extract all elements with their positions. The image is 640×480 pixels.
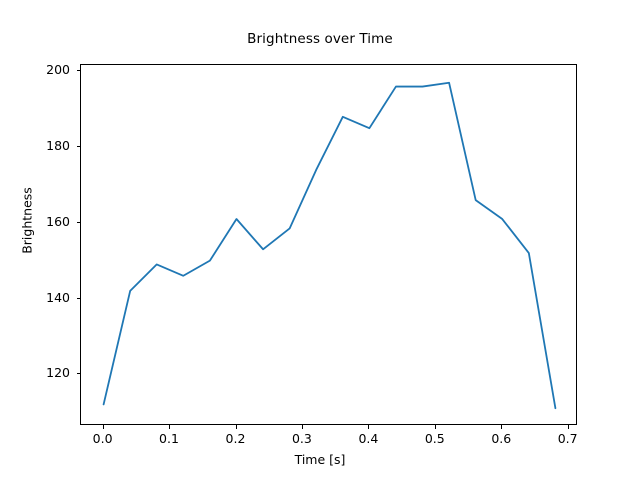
x-tick-label: 0.2 <box>216 431 256 446</box>
y-tick-label: 200 <box>30 62 70 77</box>
x-tick-label: 0.3 <box>282 431 322 446</box>
x-tick-label: 0.4 <box>348 431 388 446</box>
y-tick-label: 140 <box>30 290 70 305</box>
x-tick-label: 0.1 <box>149 431 189 446</box>
data-series-svg <box>81 65 578 426</box>
y-tick-label: 160 <box>30 214 70 229</box>
chart-title: Brightness over Time <box>0 31 640 47</box>
x-axis-label: Time [s] <box>0 452 640 467</box>
y-tick-label: 120 <box>30 365 70 380</box>
x-tick-label: 0.7 <box>548 431 588 446</box>
y-tick-label: 180 <box>30 138 70 153</box>
x-tick-label: 0.5 <box>415 431 455 446</box>
x-tick-label: 0.6 <box>481 431 521 446</box>
figure-canvas: Brightness over Time Brightness Time [s]… <box>0 0 640 480</box>
line-series-brightness <box>104 83 556 408</box>
plot-area <box>80 64 577 425</box>
x-tick-label: 0.0 <box>83 431 123 446</box>
